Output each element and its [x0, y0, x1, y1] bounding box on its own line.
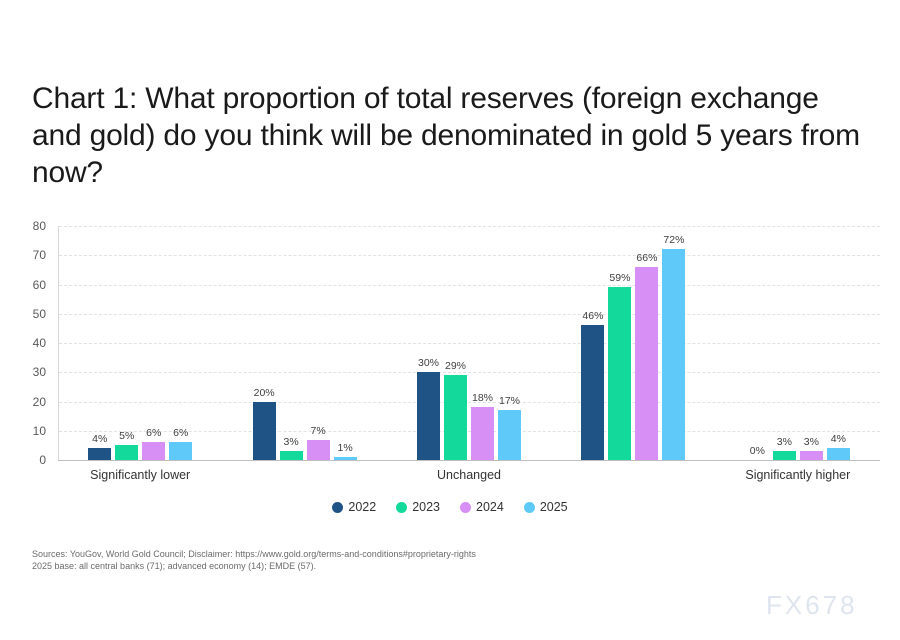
legend-item[interactable]: 2025 — [524, 500, 568, 514]
y-axis-tick-label: 20 — [33, 395, 46, 409]
bar-column[interactable]: 29% — [444, 226, 467, 460]
x-axis-tick-label: Significantly lower — [58, 468, 222, 492]
x-axis-tick-label: Significantly higher — [716, 468, 880, 492]
legend-swatch-circle-icon — [524, 502, 535, 513]
bar-value-label: 30% — [418, 357, 439, 369]
legend-item[interactable]: 2024 — [460, 500, 504, 514]
bar[interactable] — [800, 451, 823, 460]
bar-column[interactable]: 0% — [746, 226, 769, 460]
bar-column[interactable]: 20% — [253, 226, 276, 460]
bar[interactable] — [280, 451, 303, 460]
bar-column[interactable]: 3% — [773, 226, 796, 460]
y-axis-tick-label: 50 — [33, 307, 46, 321]
bar-value-label: 17% — [499, 395, 520, 407]
bar-column[interactable]: 7% — [307, 226, 330, 460]
legend-item[interactable]: 2022 — [332, 500, 376, 514]
bar[interactable] — [608, 287, 631, 460]
bar-group: 46%59%66%72% — [551, 226, 715, 460]
bar-value-label: 4% — [92, 433, 107, 445]
bar-group: 20%3%7%1% — [222, 226, 386, 460]
bar[interactable] — [635, 267, 658, 460]
bar-group: 30%29%18%17% — [387, 226, 551, 460]
bar-value-label: 18% — [472, 392, 493, 404]
legend-swatch-circle-icon — [396, 502, 407, 513]
y-axis-tick-label: 60 — [33, 278, 46, 292]
bar[interactable] — [307, 440, 330, 460]
bar-value-label: 0% — [750, 445, 765, 457]
bar-group: 0%3%3%4% — [716, 226, 880, 460]
bar-column[interactable]: 17% — [498, 226, 521, 460]
bar-column[interactable]: 4% — [88, 226, 111, 460]
bar-column[interactable]: 46% — [581, 226, 604, 460]
bar-column[interactable]: 59% — [608, 226, 631, 460]
footnote-line-1: Sources: YouGov, World Gold Council; Dis… — [32, 549, 732, 561]
bar-value-label: 5% — [119, 430, 134, 442]
bar-value-label: 3% — [284, 436, 299, 448]
legend-label: 2022 — [348, 500, 376, 514]
y-axis-tick-label: 70 — [33, 248, 46, 262]
x-axis-baseline — [58, 460, 880, 461]
legend-swatch-circle-icon — [460, 502, 471, 513]
bar-column[interactable]: 66% — [635, 226, 658, 460]
x-axis-tick-label: Unchanged — [387, 468, 551, 492]
bar-column[interactable]: 6% — [169, 226, 192, 460]
bar-value-label: 66% — [636, 252, 657, 264]
legend-label: 2025 — [540, 500, 568, 514]
bar-groups: 4%5%6%6%20%3%7%1%30%29%18%17%46%59%66%72… — [58, 226, 880, 460]
bar-value-label: 3% — [804, 436, 819, 448]
bar-column[interactable]: 72% — [662, 226, 685, 460]
y-axis-tick-label: 0 — [39, 453, 46, 467]
legend-label: 2024 — [476, 500, 504, 514]
bar[interactable] — [142, 442, 165, 460]
bar[interactable] — [334, 457, 357, 460]
bar[interactable] — [662, 249, 685, 460]
bar[interactable] — [498, 410, 521, 460]
y-axis-tick-label: 80 — [33, 219, 46, 233]
bar-group-bars: 46%59%66%72% — [551, 226, 715, 460]
bar[interactable] — [115, 445, 138, 460]
bar[interactable] — [253, 402, 276, 461]
bar-value-label: 72% — [663, 234, 684, 246]
y-axis-tick-label: 30 — [33, 365, 46, 379]
bar[interactable] — [773, 451, 796, 460]
bar-column[interactable]: 5% — [115, 226, 138, 460]
bar[interactable] — [444, 375, 467, 460]
bar-column[interactable]: 4% — [827, 226, 850, 460]
bar-group-bars: 20%3%7%1% — [222, 226, 386, 460]
bar-column[interactable]: 6% — [142, 226, 165, 460]
bar-value-label: 29% — [445, 360, 466, 372]
chart-legend: 2022202320242025 — [0, 500, 900, 514]
footnote-line-2: 2025 base: all central banks (71); advan… — [32, 561, 732, 573]
bar-value-label: 20% — [254, 387, 275, 399]
bar-value-label: 3% — [777, 436, 792, 448]
bar-group-bars: 0%3%3%4% — [716, 226, 880, 460]
bar-value-label: 6% — [173, 427, 188, 439]
bar[interactable] — [471, 407, 494, 460]
watermark: FX678 — [766, 590, 858, 621]
bar-group-bars: 4%5%6%6% — [58, 226, 222, 460]
bar-value-label: 46% — [582, 310, 603, 322]
legend-item[interactable]: 2023 — [396, 500, 440, 514]
bar-column[interactable]: 3% — [280, 226, 303, 460]
y-axis-tick-label: 10 — [33, 424, 46, 438]
x-axis-category-labels: Significantly lowerUnchangedSignificantl… — [58, 468, 880, 492]
bar-value-label: 7% — [311, 425, 326, 437]
chart-page: Chart 1: What proportion of total reserv… — [0, 0, 900, 640]
bar-value-label: 4% — [831, 433, 846, 445]
bar[interactable] — [88, 448, 111, 460]
bar-column[interactable]: 3% — [800, 226, 823, 460]
bar-column[interactable]: 18% — [471, 226, 494, 460]
bar-value-label: 6% — [146, 427, 161, 439]
bar[interactable] — [169, 442, 192, 460]
bar-value-label: 1% — [338, 442, 353, 454]
chart-footnote: Sources: YouGov, World Gold Council; Dis… — [32, 549, 732, 572]
bar-group: 4%5%6%6% — [58, 226, 222, 460]
bar-group-bars: 30%29%18%17% — [387, 226, 551, 460]
bar[interactable] — [417, 372, 440, 460]
bar-column[interactable]: 1% — [334, 226, 357, 460]
legend-label: 2023 — [412, 500, 440, 514]
y-axis-tick-label: 40 — [33, 336, 46, 350]
bar[interactable] — [581, 325, 604, 460]
chart-title: Chart 1: What proportion of total reserv… — [32, 80, 862, 191]
legend-swatch-circle-icon — [332, 502, 343, 513]
bar-value-label: 59% — [609, 272, 630, 284]
bar-column[interactable]: 30% — [417, 226, 440, 460]
bar[interactable] — [827, 448, 850, 460]
y-axis: 01020304050607080 — [0, 226, 58, 468]
chart-plot-wrapper: 01020304050607080 4%5%6%6%20%3%7%1%30%29… — [0, 226, 900, 476]
